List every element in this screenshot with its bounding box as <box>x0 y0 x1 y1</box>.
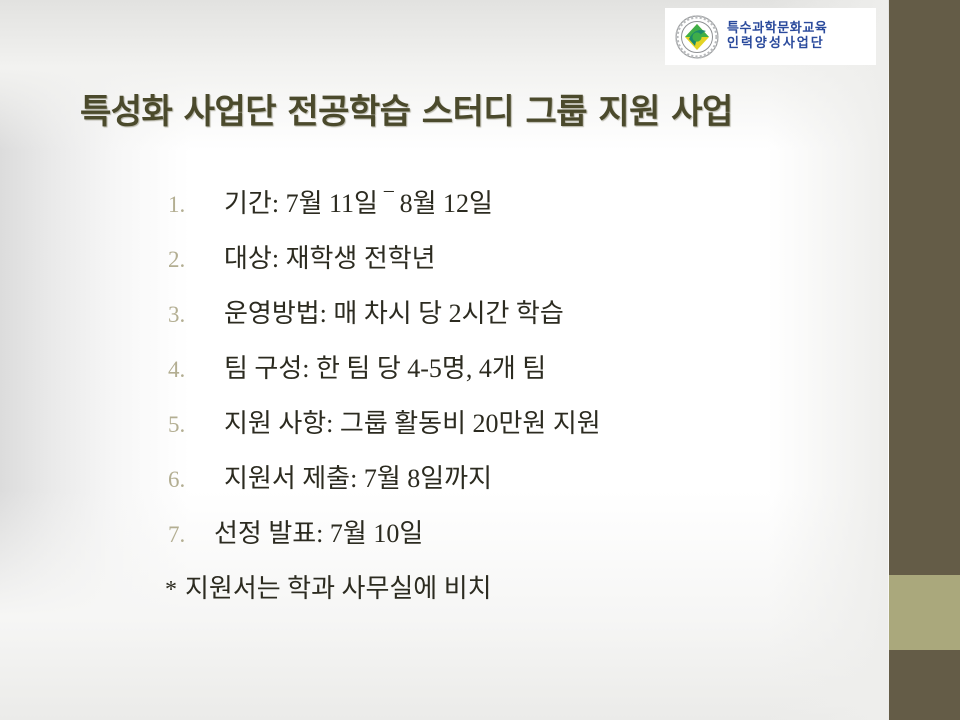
list-item-number: 6. <box>168 467 224 493</box>
footnote: * 지원서는 학과 사무실에 비치 <box>165 568 828 623</box>
organization-logo: 특수과학문화교육 인력양성사업단 <box>665 8 876 65</box>
list-item: 4. 팀 구성: 한 팀 당 4-5명, 4개 팀 <box>168 348 828 403</box>
list-item: 1. 기간: 7월 11일 ‾ 8월 12일 <box>168 183 828 238</box>
list-item-text: 대상: 재학생 전학년 <box>224 238 436 275</box>
list-item: 2. 대상: 재학생 전학년 <box>168 238 828 293</box>
list-item: 6. 지원서 제출: 7월 8일까지 <box>168 458 828 513</box>
list-item-text: 선정 발표: 7월 10일 <box>214 513 423 550</box>
list-item-number: 7. <box>168 522 214 548</box>
list-item-number: 5. <box>168 412 224 438</box>
list-item: 3. 운영방법: 매 차시 당 2시간 학습 <box>168 293 828 348</box>
footnote-text: 지원서는 학과 사무실에 비치 <box>185 568 492 605</box>
list-item-text: 지원서 제출: 7월 8일까지 <box>224 458 492 495</box>
list-item-number: 3. <box>168 302 224 328</box>
list-item-text: 기간: 7월 11일 ‾ 8월 12일 <box>224 183 493 220</box>
sidebar-accent-bar-top <box>889 0 960 575</box>
list-item-text: 지원 사항: 그룹 활동비 20만원 지원 <box>224 403 601 440</box>
sidebar-accent-bar-bottom <box>889 650 960 720</box>
list-item: 5. 지원 사항: 그룹 활동비 20만원 지원 <box>168 403 828 458</box>
numbered-list: 1. 기간: 7월 11일 ‾ 8월 12일 2. 대상: 재학생 전학년 3.… <box>168 183 828 623</box>
logo-text-line1: 특수과학문화교육 <box>727 22 827 37</box>
list-item-number: 1. <box>168 192 224 218</box>
logo-text-line2: 인력양성사업단 <box>727 37 827 52</box>
list-item-text: 팀 구성: 한 팀 당 4-5명, 4개 팀 <box>224 348 546 385</box>
list-item-number: 2. <box>168 247 224 273</box>
slide-canvas: 특수과학문화교육 인력양성사업단 특성화 사업단 전공학습 스터디 그룹 지원 … <box>0 0 960 720</box>
university-seal-emblem-icon <box>675 15 719 59</box>
list-item-text: 운영방법: 매 차시 당 2시간 학습 <box>224 293 564 330</box>
sidebar-accent-bar-khaki <box>889 575 960 650</box>
list-item: 7. 선정 발표: 7월 10일 <box>168 513 828 568</box>
footnote-marker: * <box>165 577 177 604</box>
page-title: 특성화 사업단 전공학습 스터디 그룹 지원 사업 <box>80 84 860 133</box>
logo-text: 특수과학문화교육 인력양성사업단 <box>727 22 827 51</box>
list-item-number: 4. <box>168 357 224 383</box>
